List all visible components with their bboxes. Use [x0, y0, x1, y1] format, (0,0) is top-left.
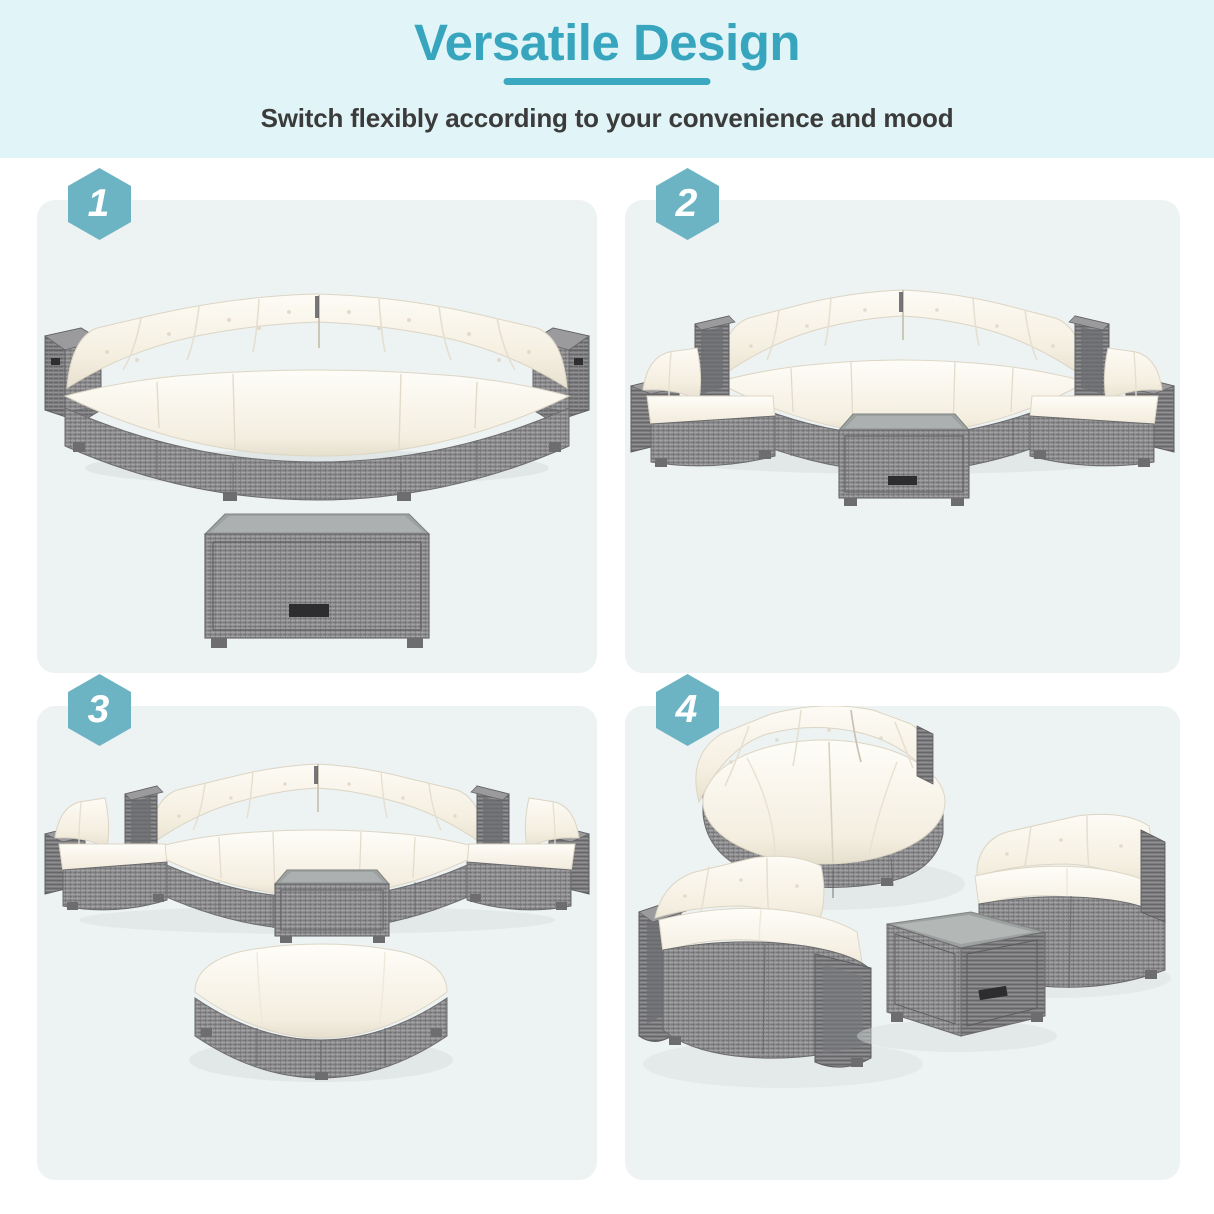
panel-1-number-label: 1	[68, 168, 131, 240]
header-banner: Versatile Design Switch flexibly accordi…	[0, 0, 1214, 158]
round-daybed-with-loveseats-illustration	[625, 706, 1180, 1180]
split-sectional-with-armchairs-illustration	[625, 200, 1180, 673]
panel-1-number-badge: 1	[68, 168, 131, 240]
config-panel-2: 2	[625, 200, 1180, 673]
curved-sectional-with-table-illustration	[37, 200, 597, 673]
panel-3-number-label: 3	[68, 674, 131, 746]
storage-coffee-table	[275, 870, 389, 943]
config-panel-3: 3	[37, 706, 597, 1180]
sectional-left-end-panel	[695, 316, 735, 408]
page-subtitle: Switch flexibly according to your conven…	[0, 103, 1214, 134]
panel-3-number-badge: 3	[68, 674, 131, 746]
page-title: Versatile Design	[0, 16, 1214, 70]
panel-1-stage	[37, 200, 597, 673]
panel-4-stage	[625, 706, 1180, 1180]
storage-coffee-table	[205, 514, 429, 648]
panel-2-number-label: 2	[656, 168, 719, 240]
config-panel-1: 1	[37, 200, 597, 673]
title-underline-rule	[504, 78, 711, 85]
panel-2-stage	[625, 200, 1180, 673]
round-ottoman-daybed	[189, 944, 453, 1082]
storage-coffee-table	[857, 912, 1057, 1052]
panel-3-stage	[37, 706, 597, 1180]
panel-4-number-label: 4	[656, 674, 719, 746]
config-panel-4: 4	[625, 706, 1180, 1180]
panel-4-number-badge: 4	[656, 674, 719, 746]
sectional-right-end-panel	[1069, 316, 1109, 408]
panel-2-number-badge: 2	[656, 168, 719, 240]
storage-coffee-table	[839, 414, 969, 506]
sectional-armchairs-ottoman-illustration	[37, 706, 597, 1180]
